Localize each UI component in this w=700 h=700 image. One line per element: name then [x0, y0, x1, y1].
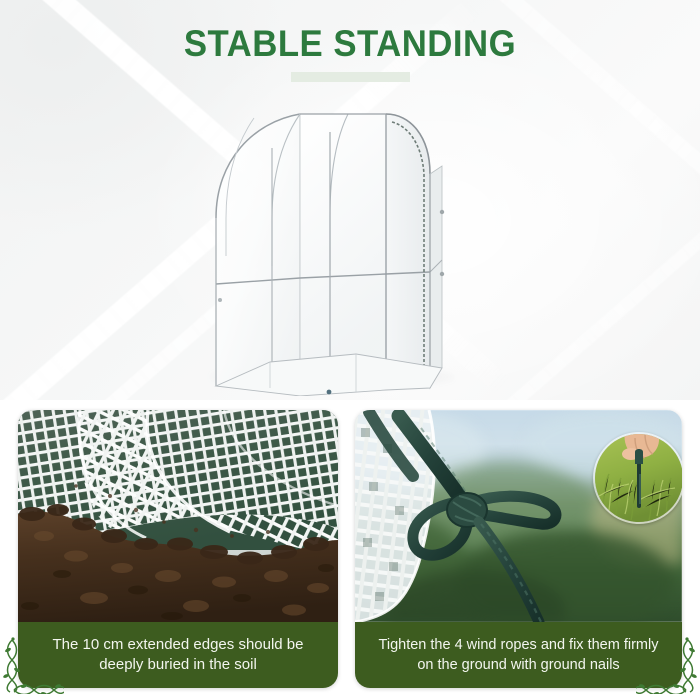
tie-clip	[218, 298, 222, 302]
greenhouse-center-face	[300, 114, 386, 386]
hero-section: STABLE STANDING	[0, 0, 700, 400]
ground-anchor	[327, 390, 332, 395]
greenhouse-product-image	[196, 96, 464, 396]
panel-photo-rope	[355, 410, 682, 622]
product-feature-page: STABLE STANDING	[0, 0, 700, 700]
feature-panel-buried-edges: The 10 cm extended edges should be deepl…	[18, 410, 338, 688]
soil-and-mesh-illustration	[18, 410, 338, 622]
soil-scene	[18, 410, 338, 622]
rope-scene	[355, 410, 682, 622]
page-title: STABLE STANDING	[21, 22, 679, 66]
rope-tail	[479, 522, 539, 622]
panel-caption-buried-edges: The 10 cm extended edges should be deepl…	[18, 622, 338, 688]
feature-panel-wind-ropes: Tighten the 4 wind ropes and fix them fi…	[355, 410, 682, 688]
panel-caption-wind-ropes: Tighten the 4 wind ropes and fix them fi…	[355, 622, 682, 688]
panel-photo-soil	[18, 410, 338, 622]
greenhouse-illustration	[196, 96, 464, 396]
ground-nail-head	[635, 449, 643, 464]
greenhouse-left-face	[216, 114, 300, 386]
title-accent-rule	[291, 72, 410, 82]
tie-clip	[440, 272, 444, 276]
inset-ground-nail	[593, 432, 682, 524]
tie-clip	[440, 210, 444, 214]
caption-text: The 10 cm extended edges should be deepl…	[32, 635, 324, 675]
greenhouse-right-side	[430, 166, 442, 388]
caption-text: Tighten the 4 wind ropes and fix them fi…	[369, 635, 668, 675]
ground-nail-illustration	[595, 434, 682, 522]
